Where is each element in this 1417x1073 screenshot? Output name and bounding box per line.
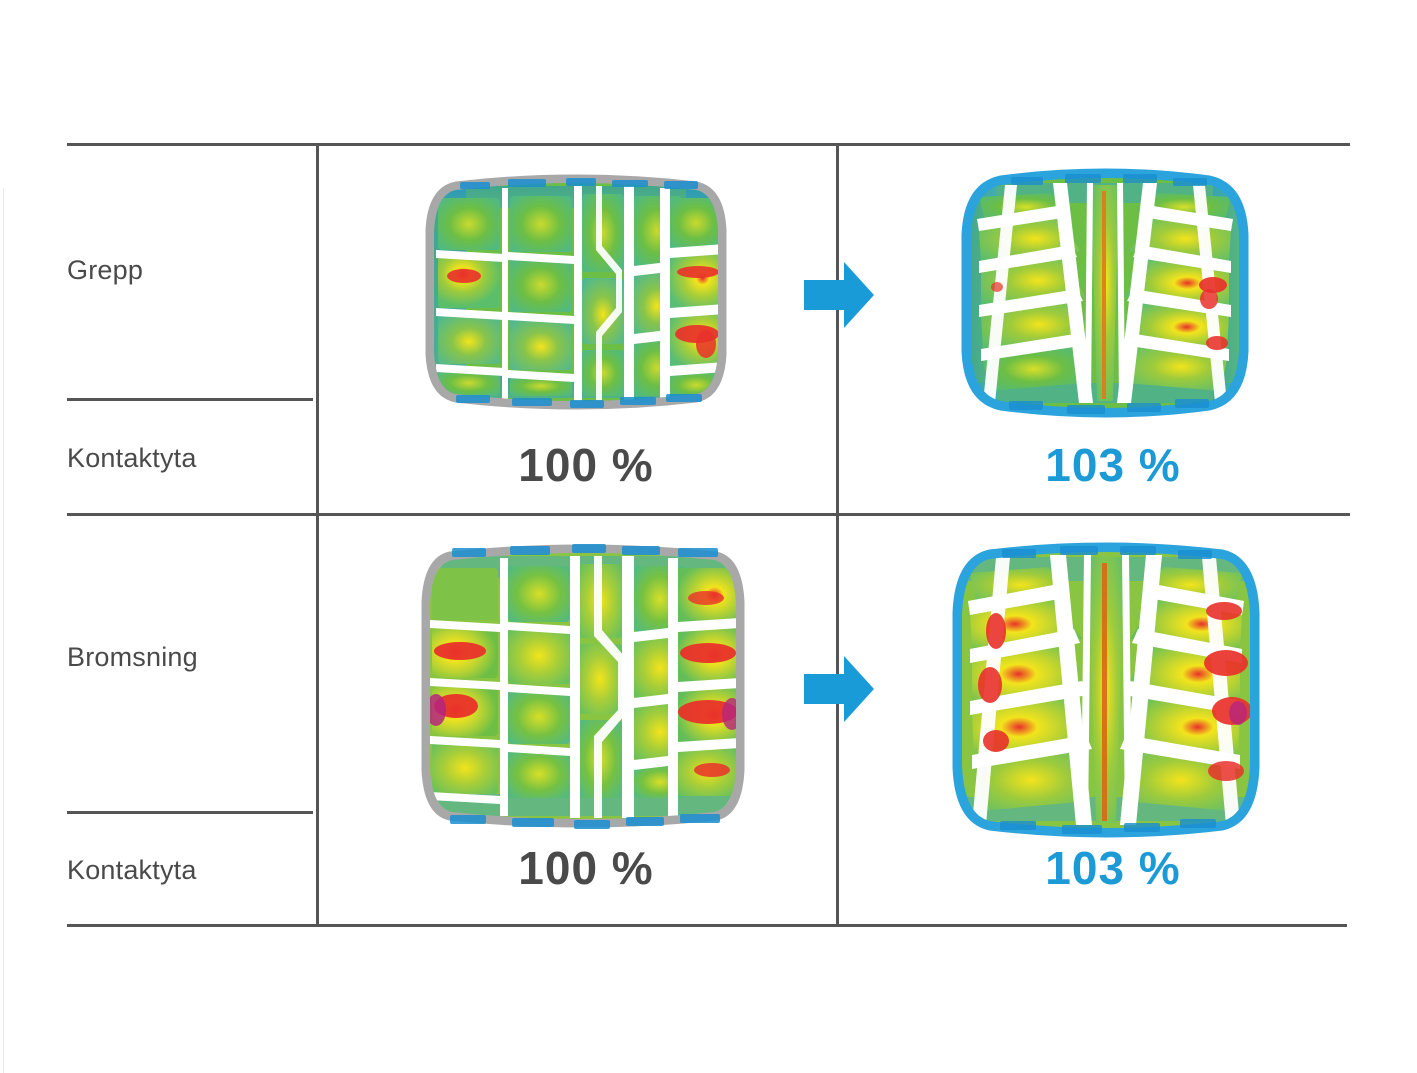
tire-footprint-grip-baseline: [416, 172, 736, 412]
tire-footprint-braking-baseline: [412, 538, 754, 833]
row-sublabel-grip-contact-area: Kontaktyta: [67, 443, 197, 474]
row-label-grip: Grepp: [67, 255, 143, 286]
table-row-divider: [67, 513, 1350, 516]
label-sub-divider-braking: [67, 811, 313, 814]
contact-area-value-grip-baseline: 100 %: [446, 438, 726, 492]
row-label-braking: Bromsning: [67, 642, 198, 673]
table-top-border: [67, 143, 1350, 146]
tire-footprint-grip-improved: [945, 165, 1265, 420]
slide-edge-line: [3, 188, 4, 1073]
contact-area-value-braking-baseline: 100 %: [446, 841, 726, 895]
contact-area-value-grip-improved: 103 %: [973, 438, 1253, 492]
table-column-divider-left: [316, 143, 319, 927]
table-bottom-border: [67, 924, 1347, 927]
comparison-arrow-grip: [800, 258, 878, 337]
comparison-arrow-braking: [800, 652, 878, 731]
slide-canvas: Grepp Kontaktyta Bromsning Kontaktyta: [0, 0, 1417, 1073]
row-sublabel-braking-contact-area: Kontaktyta: [67, 855, 197, 886]
label-sub-divider-grip: [67, 398, 313, 401]
contact-area-value-braking-improved: 103 %: [973, 841, 1253, 895]
tire-footprint-braking-improved: [938, 535, 1274, 840]
